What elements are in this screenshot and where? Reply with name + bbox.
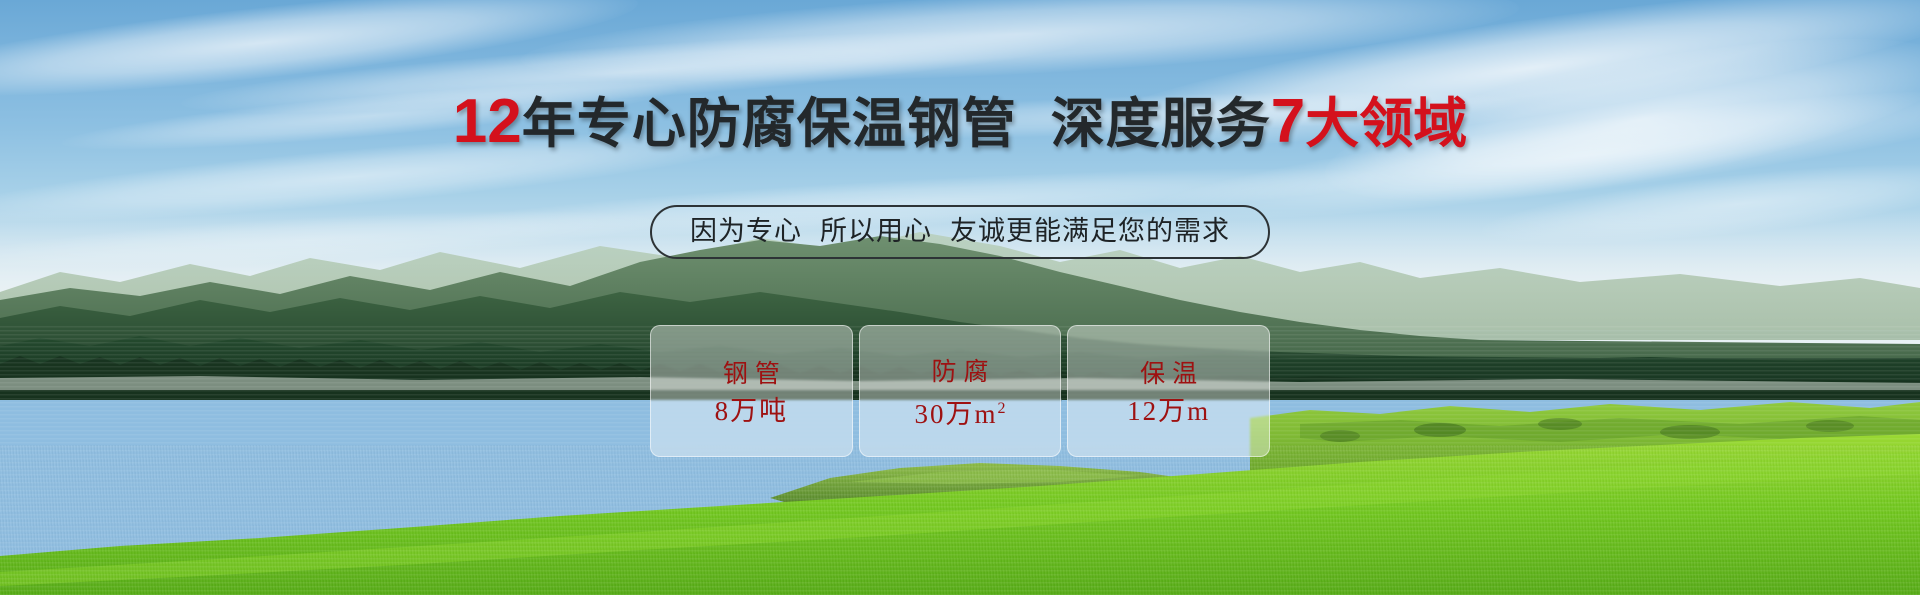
stat-card-value-text: 8万吨 <box>715 396 789 426</box>
subtitle-part-2: 所以用心 <box>820 216 932 246</box>
banner-content: 12年专心防腐保温钢管深度服务7大领域 因为专心所以用心友诚更能满足您的需求 钢… <box>0 0 1920 595</box>
stat-card-title: 保温 <box>1133 361 1204 387</box>
headline-years-number: 12 <box>453 87 522 156</box>
stat-card-anticorrosion: 防腐 30万m2 <box>859 325 1062 457</box>
stat-card-value: 12万m <box>1127 397 1210 425</box>
stat-card-steel-pipe: 钢管 8万吨 <box>650 325 853 457</box>
stat-card-insulation: 保温 12万m <box>1067 325 1270 457</box>
stat-card-value-superscript: 2 <box>998 400 1006 417</box>
banner-headline: 12年专心防腐保温钢管深度服务7大领域 <box>0 94 1920 152</box>
subtitle-part-3: 友诚更能满足您的需求 <box>950 216 1230 246</box>
stat-card-title: 钢管 <box>716 361 787 387</box>
stat-card-value-text: 12万m <box>1127 396 1210 426</box>
stat-card-title: 防腐 <box>925 359 996 385</box>
subtitle-part-1: 因为专心 <box>690 216 802 246</box>
stat-card-value: 30万m2 <box>915 395 1006 428</box>
banner-subtitle-wrap: 因为专心所以用心友诚更能满足您的需求 <box>0 205 1920 259</box>
headline-fields-unit: 大领域 <box>1305 94 1467 154</box>
headline-fields-number: 7 <box>1271 87 1305 156</box>
headline-service-text: 深度服务 <box>1051 94 1271 154</box>
stat-card-value-text: 30万m <box>915 399 998 429</box>
headline-lead-text: 年专心防腐保温钢管 <box>522 94 1017 154</box>
hero-banner: 12年专心防腐保温钢管深度服务7大领域 因为专心所以用心友诚更能满足您的需求 钢… <box>0 0 1920 595</box>
banner-subtitle-pill: 因为专心所以用心友诚更能满足您的需求 <box>650 205 1270 259</box>
stats-card-group: 钢管 8万吨 防腐 30万m2 保温 12万m <box>650 325 1270 457</box>
stat-card-value: 8万吨 <box>715 397 789 425</box>
